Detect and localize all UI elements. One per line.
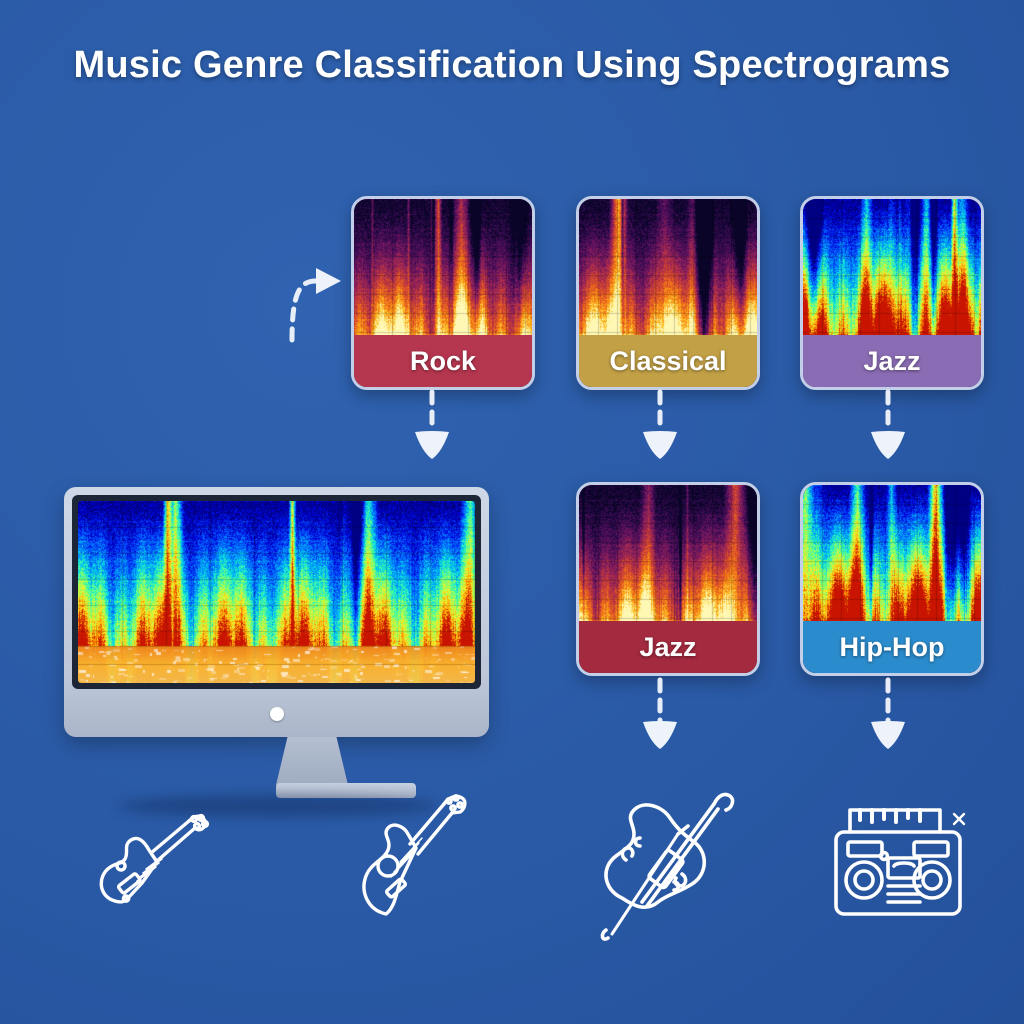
genre-card-label-jazz-bottom: Jazz — [579, 621, 757, 673]
monitor-stand-neck — [276, 737, 348, 785]
cello-icon — [582, 782, 742, 947]
arrow-monitor-to-rock — [292, 268, 341, 340]
arrow-classical-down — [643, 392, 677, 459]
electric-guitar-icon — [85, 805, 225, 925]
genre-card-label-rock: Rock — [354, 335, 532, 387]
arrow-hip-hop-down — [871, 680, 905, 749]
arrow-jazz-bottom-down — [643, 680, 677, 749]
page-title: Music Genre Classification Using Spectro… — [0, 44, 1024, 87]
genre-card-label-classical: Classical — [579, 335, 757, 387]
monitor-screen[interactable] — [78, 501, 475, 683]
genre-card-label-hip-hop: Hip-Hop — [803, 621, 981, 673]
genre-card-label-jazz-top: Jazz — [803, 335, 981, 387]
spectrogram-thumbnail-rock — [354, 199, 532, 335]
boombox-icon — [822, 796, 974, 926]
genre-card-hip-hop[interactable]: Hip-Hop — [800, 482, 984, 676]
spectrogram-thumbnail-jazz-bottom — [579, 485, 757, 621]
genre-card-classical[interactable]: Classical — [576, 196, 760, 390]
genre-card-jazz-top[interactable]: Jazz — [800, 196, 984, 390]
infographic-canvas: Music Genre Classification Using Spectro… — [0, 0, 1024, 1024]
spectrogram-thumbnail-classical — [579, 199, 757, 335]
spectrogram-thumbnail-hip-hop — [803, 485, 981, 621]
arrow-jazz-top-down — [871, 392, 905, 459]
spectrogram-thumbnail-jazz-top — [803, 199, 981, 335]
monitor-power-led — [270, 707, 284, 721]
genre-card-rock[interactable]: Rock — [351, 196, 535, 390]
acoustic-guitar-icon — [352, 788, 492, 918]
genre-card-jazz-bottom[interactable]: Jazz — [576, 482, 760, 676]
arrow-rock-down — [415, 392, 449, 459]
